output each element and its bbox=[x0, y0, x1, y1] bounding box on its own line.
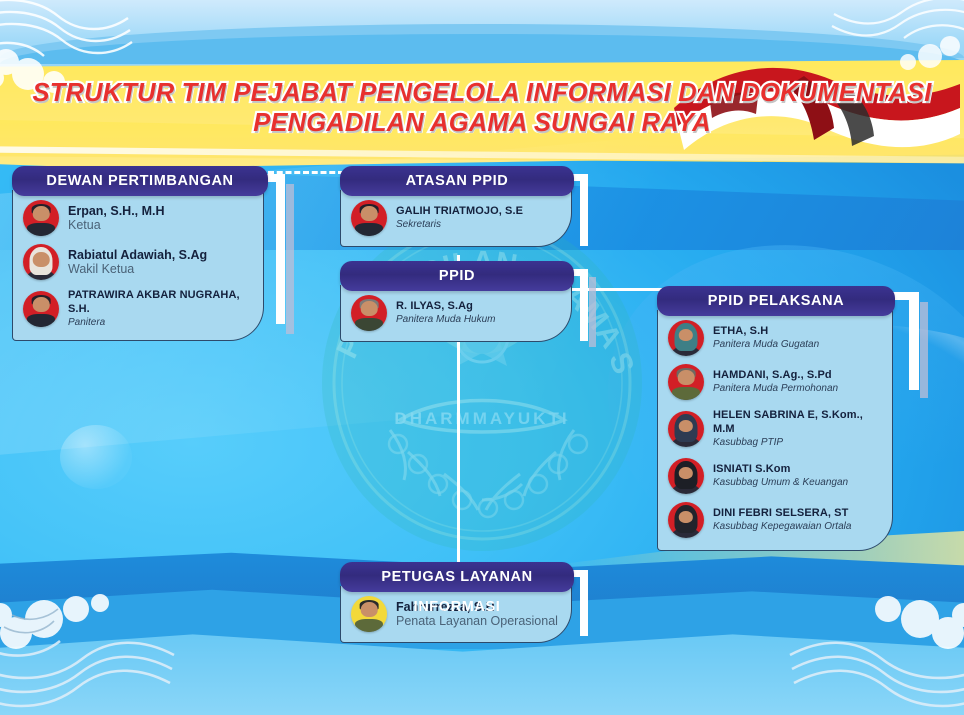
page-title: STRUKTUR TIM PEJABAT PENGELOLA INFORMASI… bbox=[0, 78, 964, 138]
avatar bbox=[351, 295, 387, 331]
member-position: Panitera Muda Permohonan bbox=[713, 382, 838, 396]
panel-header-ppid-pelaksana: PPID PELAKSANA bbox=[657, 286, 895, 316]
panel-shadow-bar bbox=[286, 184, 294, 334]
member-position: Panitera bbox=[68, 316, 253, 330]
connector-ppid-to-petugas bbox=[457, 338, 460, 566]
member-row: HELEN SABRINA E, S.Kom., M.M Kasubbag PT… bbox=[668, 408, 882, 450]
avatar bbox=[351, 200, 387, 236]
panel-header-atasan-ppid: ATASAN PPID bbox=[340, 166, 574, 196]
member-position: Panitera Muda Gugatan bbox=[713, 338, 819, 352]
member-row: Rabiatul Adawiah, S.Ag Wakil Ketua bbox=[23, 244, 253, 280]
member-position: Ketua bbox=[68, 218, 165, 232]
panel-ppid-pelaksana: PPID PELAKSANA ETHA, S.H Panitera Muda G… bbox=[657, 286, 895, 551]
avatar bbox=[23, 291, 59, 327]
member-position: Kasubbag Umum & Keuangan bbox=[713, 476, 848, 490]
avatar bbox=[668, 458, 704, 494]
member-row: ISNIATI S.Kom Kasubbag Umum & Keuangan bbox=[668, 458, 882, 494]
panel-shadow-bar bbox=[589, 277, 596, 347]
panel-petugas-layanan-informasi: PETUGAS LAYANAN INFORMASI Fahrurrezza, S… bbox=[340, 562, 574, 643]
member-row: DINI FEBRI SELSERA, ST Kasubbag Kepegawa… bbox=[668, 502, 882, 538]
avatar bbox=[668, 502, 704, 538]
page-title-line2: PENGADILAN AGAMA SUNGAI RAYA bbox=[0, 108, 964, 138]
member-name: DINI FEBRI SELSERA, ST bbox=[713, 506, 851, 520]
avatar bbox=[23, 200, 59, 236]
infographic-canvas: PENGADILAN AGAMA SUNGAI RAYA DHARMMAYUKT… bbox=[0, 0, 964, 715]
member-name: GALIH TRIATMOJO, S.E bbox=[396, 204, 523, 218]
panel-atasan-ppid: ATASAN PPID GALIH TRIATMOJO, S.E Sekreta… bbox=[340, 166, 574, 247]
panel-accent-side bbox=[580, 269, 588, 341]
member-name: HAMDANI, S.Ag., S.Pd bbox=[713, 368, 838, 382]
panel-accent-side bbox=[909, 292, 919, 390]
member-position: Sekretaris bbox=[396, 218, 523, 232]
avatar bbox=[351, 596, 387, 632]
member-position: Kasubbag PTIP bbox=[713, 436, 882, 450]
member-row: PATRAWIRA AKBAR NUGRAHA, S.H. Panitera bbox=[23, 288, 253, 330]
panel-body-ppid: R. ILYAS, S.Ag Panitera Muda Hukum bbox=[340, 285, 572, 342]
light-orb bbox=[60, 425, 132, 489]
member-name: HELEN SABRINA E, S.Kom., M.M bbox=[713, 408, 882, 436]
panel-header-petugas-layanan-informasi: PETUGAS LAYANAN INFORMASI bbox=[340, 562, 574, 592]
panel-body-ppid-pelaksana: ETHA, S.H Panitera Muda Gugatan HAMDANI,… bbox=[657, 310, 893, 551]
member-name: ISNIATI S.Kom bbox=[713, 462, 848, 476]
member-name: PATRAWIRA AKBAR NUGRAHA, S.H. bbox=[68, 288, 253, 316]
panel-shadow-bar bbox=[920, 302, 928, 398]
avatar bbox=[23, 244, 59, 280]
member-position: Wakil Ketua bbox=[68, 262, 207, 276]
avatar bbox=[668, 411, 704, 447]
panel-body-dewan-pertimbangan: Erpan, S.H., M.H Ketua Rabiatul Adawiah,… bbox=[12, 190, 264, 341]
panel-ppid: PPID R. ILYAS, S.Ag Panitera Muda Hukum bbox=[340, 261, 574, 342]
panel-accent-side bbox=[580, 174, 588, 246]
member-position: Kasubbag Kepegawaian Ortala bbox=[713, 520, 851, 534]
panel-accent-side bbox=[580, 570, 588, 636]
panel-body-atasan-ppid: GALIH TRIATMOJO, S.E Sekretaris bbox=[340, 190, 572, 247]
svg-text:DHARMMAYUKTI: DHARMMAYUKTI bbox=[394, 409, 569, 428]
member-row: HAMDANI, S.Ag., S.Pd Panitera Muda Permo… bbox=[668, 364, 882, 400]
avatar bbox=[668, 364, 704, 400]
panel-header-dewan-pertimbangan: DEWAN PERTIMBANGAN bbox=[12, 166, 268, 196]
member-position: Panitera Muda Hukum bbox=[396, 313, 496, 327]
member-row: Erpan, S.H., M.H Ketua bbox=[23, 200, 253, 236]
panel-dewan-pertimbangan: DEWAN PERTIMBANGAN Erpan, S.H., M.H Ketu… bbox=[12, 166, 268, 341]
member-row: R. ILYAS, S.Ag Panitera Muda Hukum bbox=[351, 295, 561, 331]
panel-accent-side bbox=[276, 174, 285, 324]
member-name: Rabiatul Adawiah, S.Ag bbox=[68, 248, 207, 262]
page-title-line1: STRUKTUR TIM PEJABAT PENGELOLA INFORMASI… bbox=[33, 79, 932, 107]
member-name: ETHA, S.H bbox=[713, 324, 819, 338]
member-row: ETHA, S.H Panitera Muda Gugatan bbox=[668, 320, 882, 356]
member-row: GALIH TRIATMOJO, S.E Sekretaris bbox=[351, 200, 561, 236]
avatar bbox=[668, 320, 704, 356]
panel-header-ppid: PPID bbox=[340, 261, 574, 291]
member-name: Erpan, S.H., M.H bbox=[68, 204, 165, 218]
wave-ornament-bottom-right bbox=[780, 589, 964, 715]
wave-ornament-bottom-left bbox=[0, 589, 184, 715]
member-name: R. ILYAS, S.Ag bbox=[396, 299, 496, 313]
